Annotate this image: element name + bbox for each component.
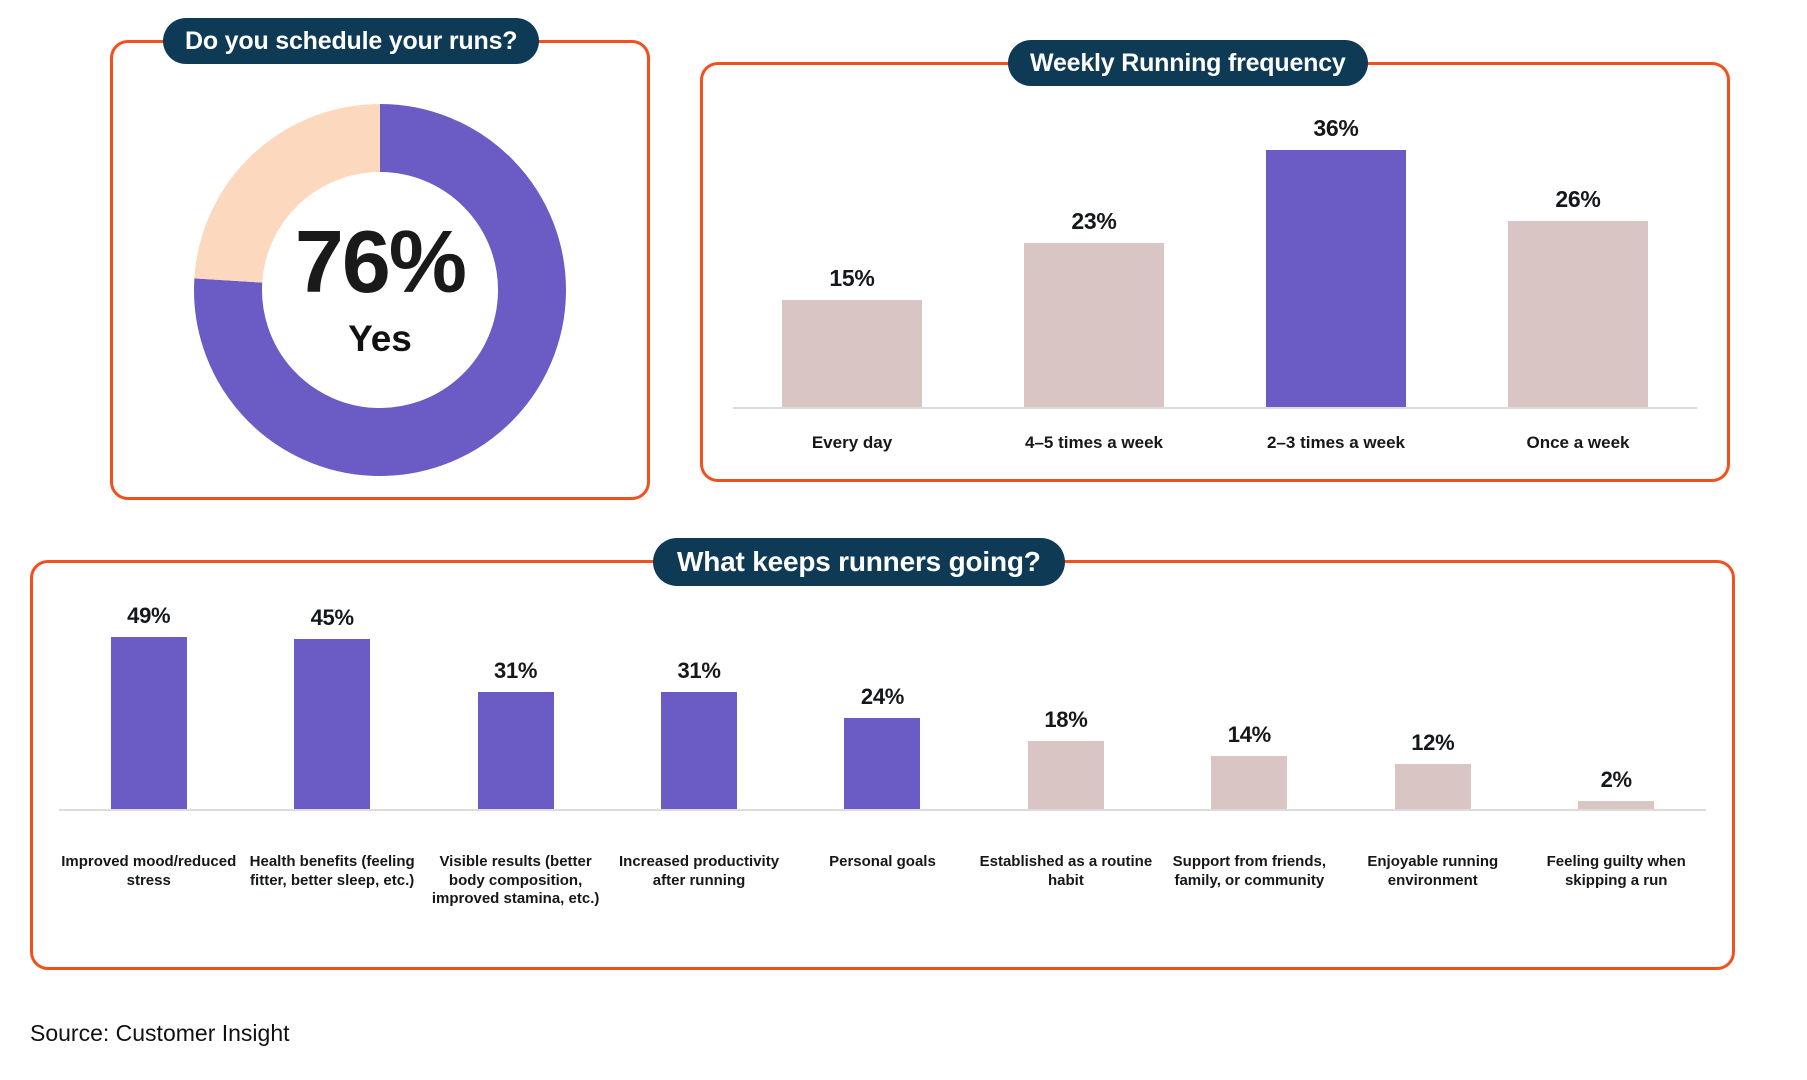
bar-rect xyxy=(1266,150,1406,407)
bar-column: 36% xyxy=(1266,111,1406,407)
bar-value-label: 24% xyxy=(861,684,904,710)
bar-category-label: Established as a routine habit xyxy=(978,853,1154,891)
bar-category-label: Once a week xyxy=(1478,432,1678,453)
bar-rect xyxy=(1028,741,1104,809)
bar-category-label: Every day xyxy=(752,432,952,453)
bar-column: 24% xyxy=(844,603,920,809)
motivation-labels-container: Improved mood/reduced stressHealth benef… xyxy=(57,853,1708,909)
motivation-bars-container: 49%45%31%31%24%18%14%12%2% xyxy=(57,603,1708,809)
bar-column: 45% xyxy=(294,603,370,809)
bar-rect xyxy=(1395,764,1471,809)
bar-value-label: 12% xyxy=(1411,730,1454,756)
bar-value-label: 31% xyxy=(677,658,720,684)
bar-rect xyxy=(1024,243,1164,407)
bar-rect xyxy=(782,300,922,407)
bar-column: 15% xyxy=(782,111,922,407)
bar-rect xyxy=(1578,801,1654,809)
bar-column: 49% xyxy=(111,603,187,809)
donut-segment-no xyxy=(228,138,380,280)
bar-value-label: 18% xyxy=(1044,707,1087,733)
bar-category-label: Support from friends, family, or communi… xyxy=(1161,853,1337,891)
bar-value-label: 26% xyxy=(1555,186,1600,213)
card-weekly-running-frequency: Weekly Running frequency 15%23%36%26% Ev… xyxy=(700,62,1730,482)
bar-rect xyxy=(294,639,370,809)
card-schedule-your-runs: Do you schedule your runs? 76% Yes xyxy=(110,40,650,500)
motivation-axis-line xyxy=(59,809,1706,811)
infographic-page: Do you schedule your runs? 76% Yes Weekl… xyxy=(0,0,1807,1080)
bar-column: 23% xyxy=(1024,111,1164,407)
bar-rect xyxy=(111,637,187,809)
weekly-labels-container: Every day4–5 times a week2–3 times a wee… xyxy=(731,432,1699,453)
bar-category-label: Visible results (better body composition… xyxy=(428,853,604,909)
bar-category-label: 2–3 times a week xyxy=(1236,432,1436,453)
card-what-keeps-runners-going: What keeps runners going? 49%45%31%31%24… xyxy=(30,560,1735,970)
bar-chart-motivation: 49%45%31%31%24%18%14%12%2% Improved mood… xyxy=(33,563,1732,967)
card-title-motivation: What keeps runners going? xyxy=(653,538,1065,586)
bar-column: 18% xyxy=(1028,603,1104,809)
card-title-weekly: Weekly Running frequency xyxy=(1008,40,1368,86)
bar-column: 31% xyxy=(661,603,737,809)
bar-column: 2% xyxy=(1578,603,1654,809)
bar-column: 31% xyxy=(478,603,554,809)
bar-rect xyxy=(1508,221,1648,407)
bar-rect xyxy=(844,718,920,809)
bar-category-label: Health benefits (feeling fitter, better … xyxy=(244,853,420,891)
bar-column: 12% xyxy=(1395,603,1471,809)
bar-category-label: Increased productivity after running xyxy=(611,853,787,891)
donut-svg xyxy=(185,95,575,485)
bar-value-label: 15% xyxy=(829,265,874,292)
bar-category-label: Improved mood/reduced stress xyxy=(61,853,237,891)
bar-rect xyxy=(1211,756,1287,809)
bar-value-label: 14% xyxy=(1228,722,1271,748)
bar-category-label: 4–5 times a week xyxy=(994,432,1194,453)
bar-chart-weekly: 15%23%36%26% Every day4–5 times a week2–… xyxy=(703,65,1727,479)
card-title-schedule: Do you schedule your runs? xyxy=(163,18,539,64)
bar-rect xyxy=(661,692,737,809)
bar-value-label: 45% xyxy=(311,605,354,631)
bar-value-label: 49% xyxy=(127,603,170,629)
bar-column: 26% xyxy=(1508,111,1648,407)
bar-value-label: 31% xyxy=(494,658,537,684)
bar-category-label: Feeling guilty when skipping a run xyxy=(1528,853,1704,891)
bar-category-label: Personal goals xyxy=(794,853,970,872)
bar-column: 14% xyxy=(1211,603,1287,809)
bar-category-label: Enjoyable running environment xyxy=(1345,853,1521,891)
weekly-axis-line xyxy=(733,407,1697,409)
bar-rect xyxy=(478,692,554,809)
donut-chart-schedule: 76% Yes xyxy=(185,95,575,485)
bar-value-label: 36% xyxy=(1313,115,1358,142)
bar-value-label: 23% xyxy=(1071,208,1116,235)
bar-value-label: 2% xyxy=(1601,767,1632,793)
source-note: Source: Customer Insight xyxy=(30,1020,290,1047)
weekly-bars-container: 15%23%36%26% xyxy=(731,111,1699,407)
